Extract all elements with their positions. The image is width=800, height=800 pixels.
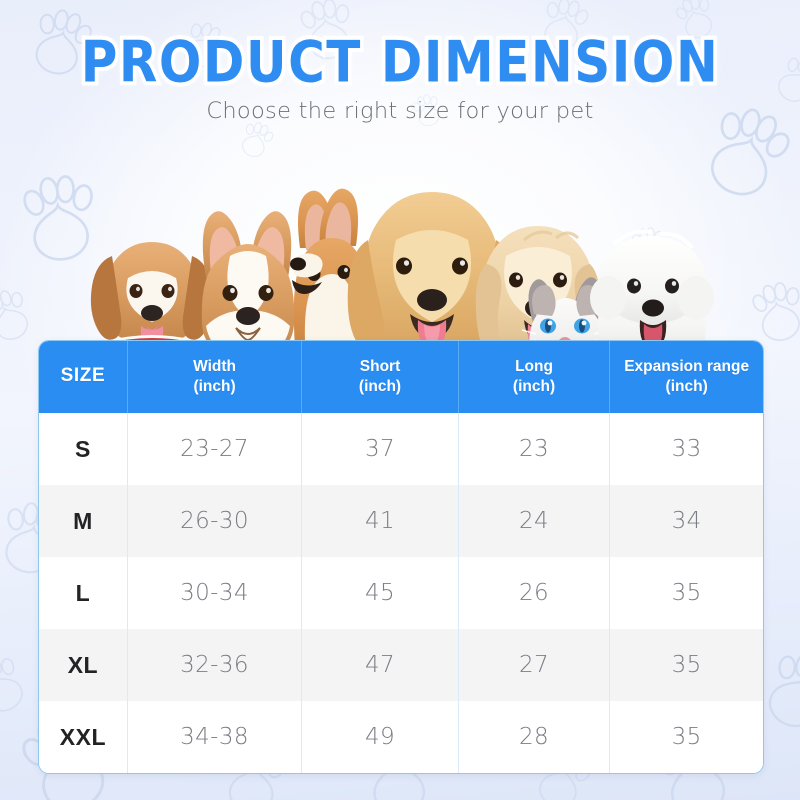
column-header-expansion-range-label: Expansion range xyxy=(624,358,749,375)
column-header-size-label: SIZE xyxy=(61,365,106,386)
cell-size: M xyxy=(39,485,128,557)
cell-short: 45 xyxy=(302,557,459,629)
column-header-short: Short (inch) xyxy=(302,341,459,413)
table-body: S 23-27 37 23 33 M 26-30 41 24 34 L 30-3… xyxy=(39,413,763,773)
cell-expansion-range: 34 xyxy=(610,485,763,557)
cell-size: XXL xyxy=(39,701,128,773)
column-header-short-label: Short xyxy=(360,358,400,375)
column-header-expansion-range-unit: (inch) xyxy=(666,378,708,395)
cell-expansion-range: 35 xyxy=(610,701,763,773)
table-row: XL 32-36 47 27 35 xyxy=(39,629,763,701)
column-header-size: SIZE xyxy=(39,341,128,413)
table-row: S 23-27 37 23 33 xyxy=(39,413,763,485)
page-subtitle: Choose the right size for your pet xyxy=(0,98,800,124)
pet-lineup-image xyxy=(0,128,800,360)
cell-long: 24 xyxy=(459,485,611,557)
column-header-width-unit: (inch) xyxy=(193,378,235,395)
cell-width: 26-30 xyxy=(128,485,302,557)
animal-corgi xyxy=(202,211,294,358)
cell-width: 32-36 xyxy=(128,629,302,701)
cell-width: 34-38 xyxy=(128,701,302,773)
cell-long: 27 xyxy=(459,629,611,701)
column-header-width-label: Width xyxy=(193,358,236,375)
cell-size: L xyxy=(39,557,128,629)
cell-short: 49 xyxy=(302,701,459,773)
header-block: PRODUCT DIMENSION Choose the right size … xyxy=(0,0,800,124)
cell-expansion-range: 35 xyxy=(610,557,763,629)
cell-size: XL xyxy=(39,629,128,701)
table-row: XXL 34-38 49 28 35 xyxy=(39,701,763,773)
column-header-long-label: Long xyxy=(515,358,553,375)
table-row: M 26-30 41 24 34 xyxy=(39,485,763,557)
page-title: PRODUCT DIMENSION xyxy=(81,34,720,91)
size-chart-container: SIZE Width (inch) Short (inch) Long (inc… xyxy=(38,340,764,774)
table-row: L 30-34 45 26 35 xyxy=(39,557,763,629)
column-header-short-unit: (inch) xyxy=(359,378,401,395)
cell-expansion-range: 35 xyxy=(610,629,763,701)
cell-size: S xyxy=(39,413,128,485)
column-header-expansion-range: Expansion range (inch) xyxy=(610,341,763,413)
size-chart-table: SIZE Width (inch) Short (inch) Long (inc… xyxy=(38,340,764,774)
animal-beagle xyxy=(91,242,213,354)
column-header-long: Long (inch) xyxy=(459,341,611,413)
table-header: SIZE Width (inch) Short (inch) Long (inc… xyxy=(39,341,763,413)
column-header-width: Width (inch) xyxy=(128,341,302,413)
cell-long: 26 xyxy=(459,557,611,629)
column-header-long-unit: (inch) xyxy=(513,378,555,395)
table-header-row: SIZE Width (inch) Short (inch) Long (inc… xyxy=(39,341,763,413)
cell-long: 28 xyxy=(459,701,611,773)
cell-long: 23 xyxy=(459,413,611,485)
cell-short: 37 xyxy=(302,413,459,485)
cell-short: 47 xyxy=(302,629,459,701)
cell-short: 41 xyxy=(302,485,459,557)
cell-width: 30-34 xyxy=(128,557,302,629)
cell-width: 23-27 xyxy=(128,413,302,485)
cell-expansion-range: 33 xyxy=(610,413,763,485)
